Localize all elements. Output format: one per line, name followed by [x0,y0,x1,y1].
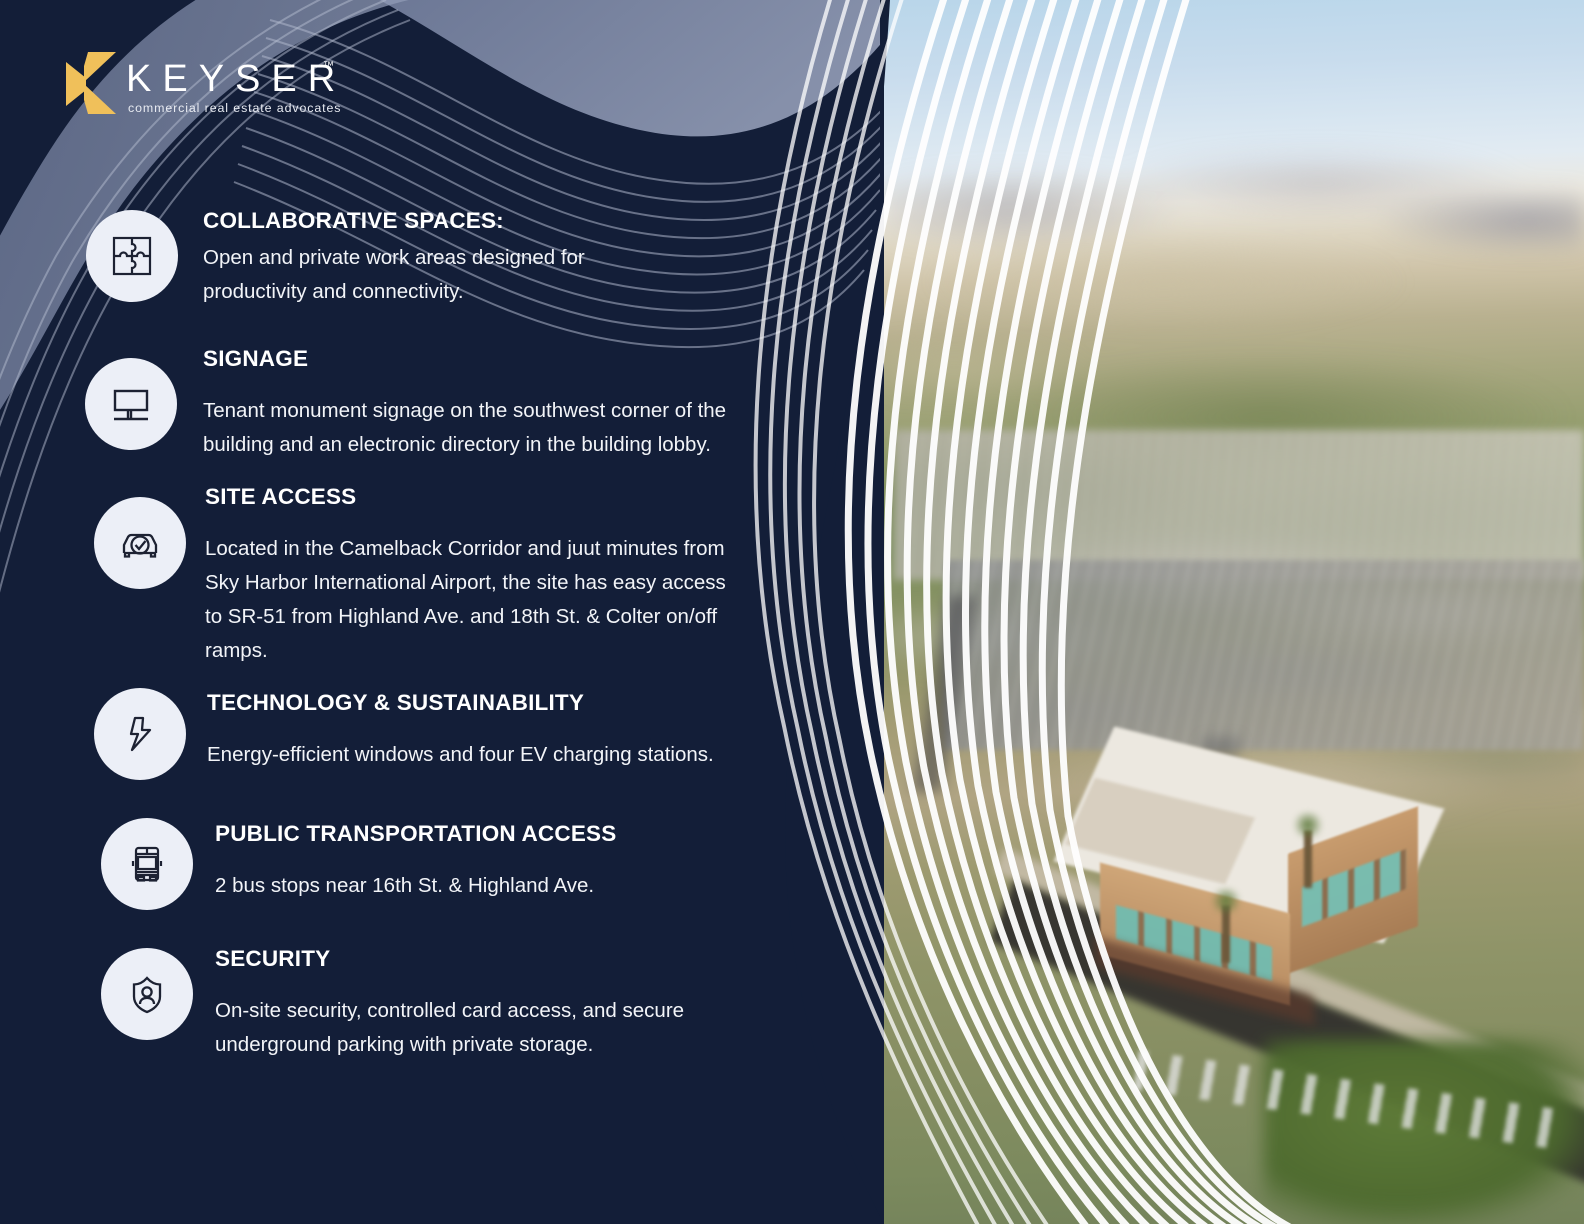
feature-text-block: TECHNOLOGY & SUSTAINABILITY Energy-effic… [207,690,807,772]
security-icon-badge [101,948,193,1040]
technology-icon-badge [94,688,186,780]
monitor-signage-icon [107,380,155,428]
trademark-symbol: ™ [323,60,334,72]
bus-icon [123,840,171,888]
feature-heading: PUBLIC TRANSPORTATION ACCESS [215,821,815,847]
feature-body: Tenant monument signage on the southwest… [203,394,759,462]
transit-icon-badge [101,818,193,910]
feature-text-block: SECURITY On-site security, controlled ca… [215,946,815,1062]
feature-body: 2 bus stops near 16th St. & Highland Ave… [215,869,795,903]
feature-text-block: SIGNAGE Tenant monument signage on the s… [203,346,803,462]
feature-heading: COLLABORATIVE SPACES: [203,208,763,234]
feature-text-block: SITE ACCESS Located in the Camelback Cor… [205,484,805,668]
puzzle-icon-badge [86,210,178,302]
brand-tagline: commercial real estate advocates [128,101,341,115]
lightning-bolt-icon [116,710,164,758]
palm-fronds [1291,812,1325,838]
keyser-logo[interactable]: KEYSER ™ commercial real estate advocate… [64,52,364,124]
palm-trunk [1304,830,1312,888]
brochure-page: KEYSER ™ commercial real estate advocate… [0,0,1584,1224]
feature-heading: SIGNAGE [203,346,803,372]
feature-heading: SITE ACCESS [205,484,805,510]
signage-icon-badge [85,358,177,450]
shield-person-icon [123,970,171,1018]
site-access-icon-badge [94,497,186,589]
palm-fronds [1209,888,1243,914]
photo-office-building [1074,760,1544,1060]
feature-heading: SECURITY [215,946,815,972]
feature-text-block: PUBLIC TRANSPORTATION ACCESS 2 bus stops… [215,821,815,903]
feature-heading: TECHNOLOGY & SUSTAINABILITY [207,690,807,716]
feature-text-block: COLLABORATIVE SPACES: Open and private w… [203,208,763,309]
feature-body: Located in the Camelback Corridor and ju… [205,532,745,668]
feature-body: Open and private work areas designed for… [203,241,603,309]
feature-body: Energy-efficient windows and four EV cha… [207,738,787,772]
brand-wordmark: KEYSER [126,58,346,101]
aerial-property-photo [884,0,1584,1224]
keyser-k-logomark [64,52,116,114]
puzzle-icon [108,232,156,280]
car-check-icon [116,519,164,567]
feature-body: On-site security, controlled card access… [215,994,725,1062]
